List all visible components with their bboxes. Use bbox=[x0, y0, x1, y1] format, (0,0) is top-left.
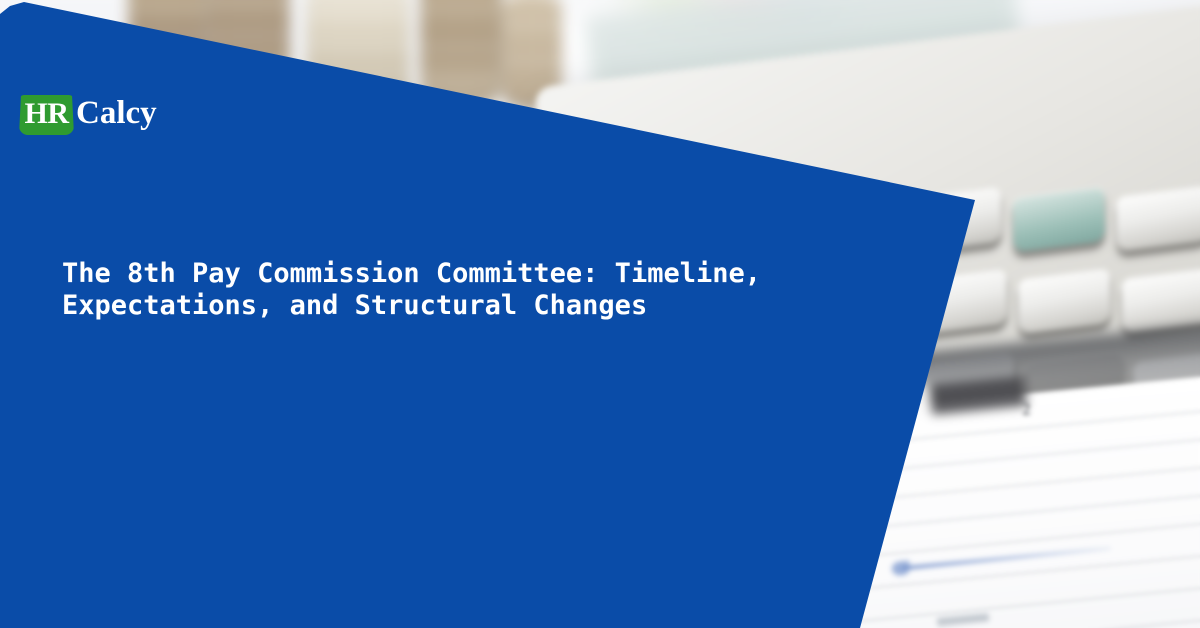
page-title: The 8th Pay Commission Committee: Timeli… bbox=[62, 258, 822, 322]
site-logo[interactable]: HR Calcy bbox=[19, 95, 157, 135]
paper-mark-grey bbox=[937, 613, 990, 626]
article-banner: 1 2 HR Calcy The 8th Pay Commission Comm… bbox=[0, 0, 1200, 628]
logo-wordmark: Calcy bbox=[76, 97, 157, 133]
logo-badge-text: HR bbox=[25, 99, 69, 131]
logo-badge: HR bbox=[19, 95, 74, 135]
paper-number-2: 2 bbox=[1022, 399, 1032, 419]
